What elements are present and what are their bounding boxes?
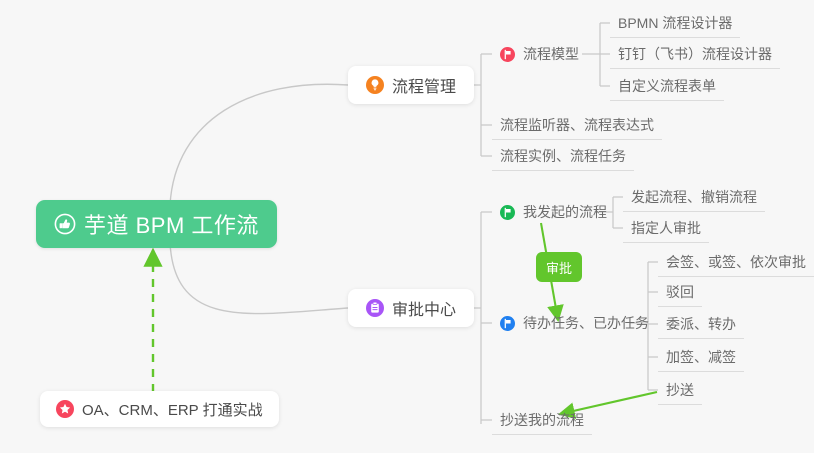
node-custom-form[interactable]: 自定义流程表单 (610, 71, 724, 101)
node-label: 会签、或签、依次审批 (666, 252, 806, 272)
approval-tag[interactable]: 审批 (536, 252, 582, 282)
node-label: 流程模型 (523, 44, 579, 64)
node-label: 抄送 (666, 380, 694, 400)
connector-root-to-approval-center (170, 243, 348, 314)
node-label: 抄送我的流程 (500, 410, 584, 430)
thumbs-up-icon (54, 213, 76, 235)
node-countersign[interactable]: 会签、或签、依次审批 (658, 247, 814, 277)
node-process-instance[interactable]: 流程实例、流程任务 (492, 141, 634, 171)
node-label: 委派、转办 (666, 314, 736, 334)
node-start-cancel-process[interactable]: 发起流程、撤销流程 (623, 182, 765, 212)
flag-icon (500, 205, 515, 220)
node-label: 待办任务、已办任务 (523, 313, 649, 333)
branch-label: 流程管理 (392, 73, 456, 97)
flag-icon (500, 316, 515, 331)
integration-card-label: OA、CRM、ERP 打通实战 (82, 399, 263, 420)
branch-label: 审批中心 (392, 296, 456, 320)
node-add-remove-sign[interactable]: 加签、减签 (658, 342, 744, 372)
connector-root-to-process-mgmt (170, 84, 348, 205)
branch-process-management[interactable]: 流程管理 (348, 66, 474, 104)
node-process-model[interactable]: 流程模型 (492, 39, 587, 69)
node-cc-to-me[interactable]: 抄送我的流程 (492, 405, 592, 435)
node-label: 加签、减签 (666, 347, 736, 367)
node-label: 流程实例、流程任务 (500, 146, 626, 166)
node-reject[interactable]: 驳回 (658, 277, 702, 307)
node-label: BPMN 流程设计器 (618, 13, 732, 33)
node-label: 自定义流程表单 (618, 76, 716, 96)
node-label: 驳回 (666, 282, 694, 302)
approval-tag-label: 审批 (546, 258, 572, 277)
node-dingtalk-designer[interactable]: 钉钉（飞书）流程设计器 (610, 39, 780, 69)
root-label: 芋道 BPM 工作流 (84, 208, 259, 240)
integration-card[interactable]: OA、CRM、ERP 打通实战 (40, 391, 279, 427)
node-delegate-transfer[interactable]: 委派、转办 (658, 309, 744, 339)
star-icon (56, 400, 74, 418)
node-label: 指定人审批 (631, 218, 701, 238)
node-label: 我发起的流程 (523, 202, 607, 222)
node-todo-done-tasks[interactable]: 待办任务、已办任务 (492, 308, 657, 338)
node-process-listener[interactable]: 流程监听器、流程表达式 (492, 110, 662, 140)
node-bpmn-designer[interactable]: BPMN 流程设计器 (610, 8, 740, 38)
node-my-initiated-processes[interactable]: 我发起的流程 (492, 197, 615, 227)
node-assigned-approval[interactable]: 指定人审批 (623, 213, 709, 243)
branch-approval-center[interactable]: 审批中心 (348, 289, 474, 327)
mindmap-canvas: 芋道 BPM 工作流 流程管理 流程模型 BPMN 流程设计器 钉钉（飞书）流程 (0, 0, 814, 453)
node-cc[interactable]: 抄送 (658, 375, 702, 405)
node-label: 钉钉（飞书）流程设计器 (618, 44, 772, 64)
clipboard-icon (366, 299, 384, 317)
lightbulb-icon (366, 76, 384, 94)
node-label: 流程监听器、流程表达式 (500, 115, 654, 135)
flag-icon (500, 47, 515, 62)
node-label: 发起流程、撤销流程 (631, 187, 757, 207)
root-node[interactable]: 芋道 BPM 工作流 (36, 200, 277, 248)
